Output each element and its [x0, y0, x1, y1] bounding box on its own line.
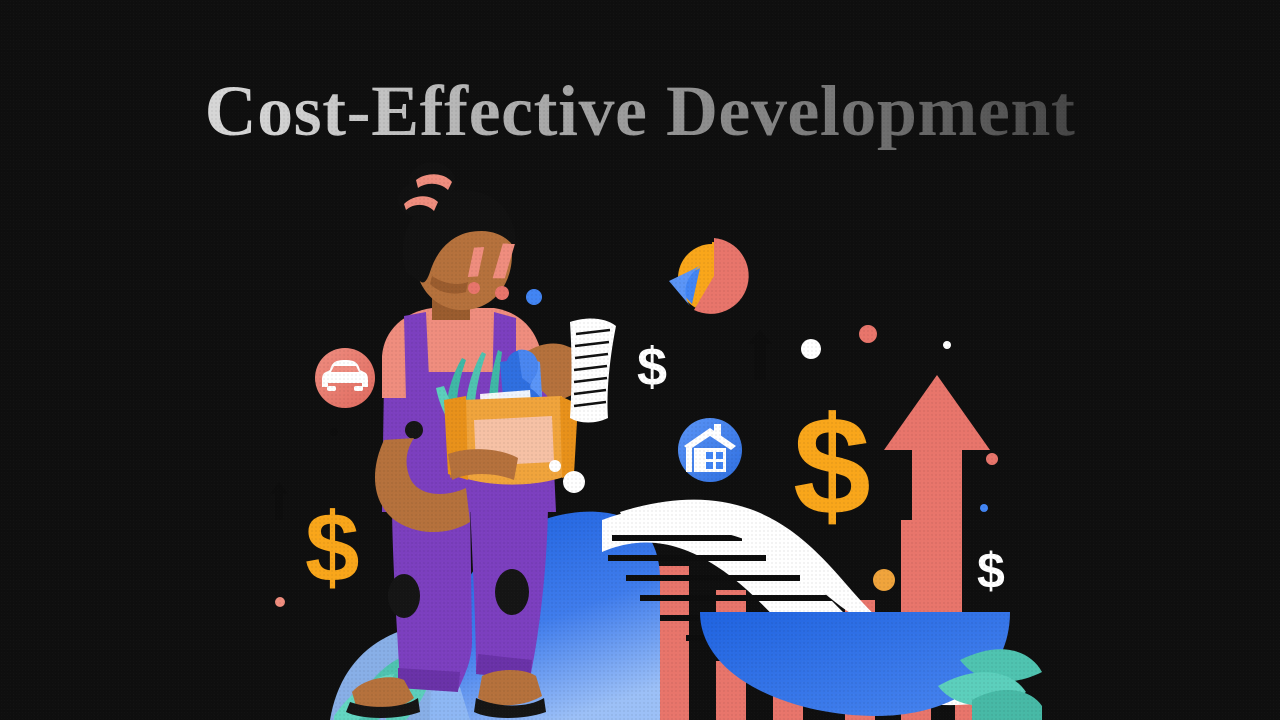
dollar-sign-orange-large: $	[793, 396, 871, 536]
dot-orange	[873, 569, 895, 591]
dot-black-tiny	[330, 428, 338, 436]
dot-red-medium	[859, 325, 877, 343]
slide-canvas: Cost-Effective Development	[0, 0, 1280, 720]
dot-salmon-tiny	[275, 597, 285, 607]
dollar-sign-white-right: $	[977, 546, 1005, 596]
dot-white-small	[943, 341, 951, 349]
receipt-in-hand-graphic	[570, 319, 616, 423]
dollar-sign-orange-left: $	[305, 498, 360, 596]
dot-blue-upper	[526, 289, 542, 305]
house-badge-icon	[678, 418, 742, 482]
arrow-up-black-small	[270, 482, 288, 520]
dot-white-medium	[549, 460, 561, 472]
dot-blue-small	[980, 504, 988, 512]
dot-white-icon	[801, 339, 821, 359]
dot-white-large	[563, 471, 585, 493]
page-title: Cost-Effective Development	[0, 74, 1280, 150]
dot-red-small	[986, 453, 998, 465]
arrow-up-black-tall	[748, 330, 772, 380]
pie-chart-graphic	[669, 238, 749, 314]
car-badge-icon	[315, 348, 375, 408]
dollar-sign-white-small: $	[637, 340, 667, 394]
